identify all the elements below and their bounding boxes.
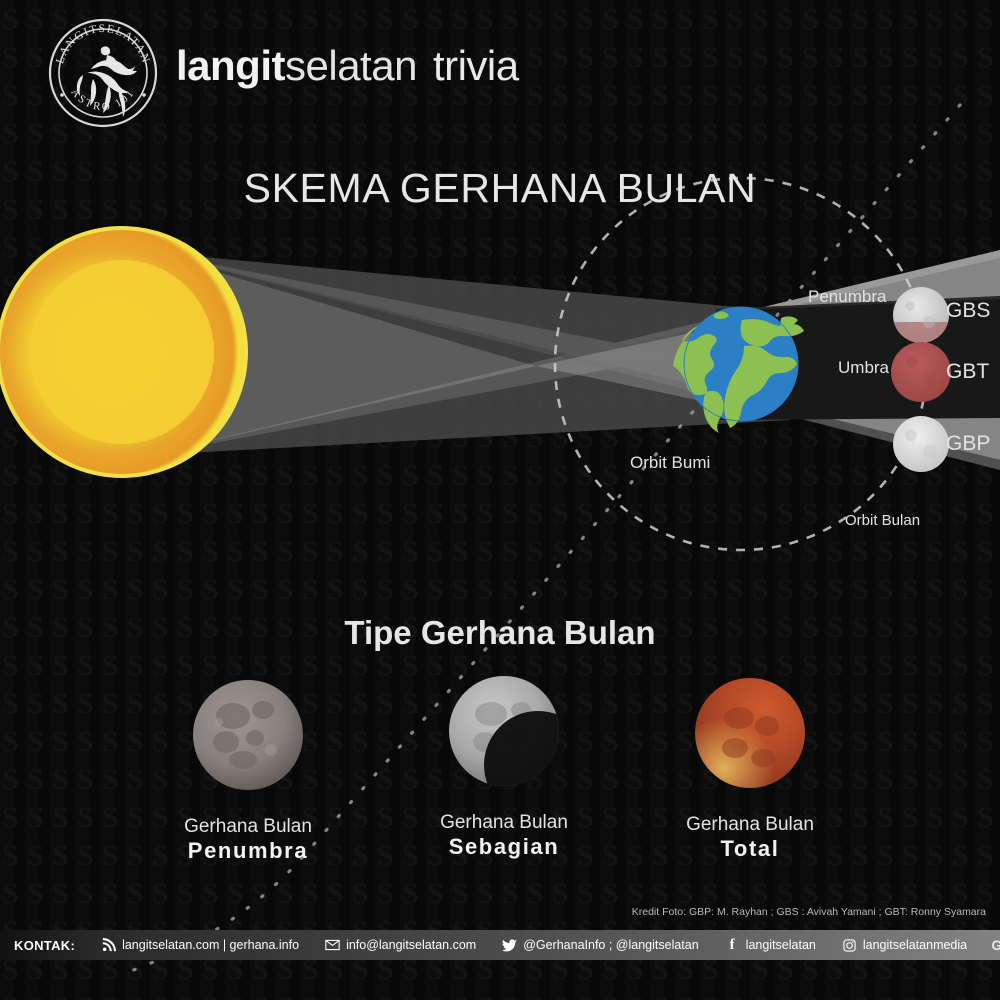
photo-credit: Kredit Foto: GBP: M. Rayhan ; GBS : Aviv…	[632, 906, 986, 918]
twitter-icon	[502, 938, 517, 953]
facebook-icon: f	[725, 938, 740, 953]
wordmark-bold: langit	[176, 42, 285, 89]
footer-item-googleplus[interactable]: G+ LangitselatanMedia	[993, 938, 1000, 953]
label-gbp: GBP	[946, 432, 990, 456]
label-orbit-bulan: Orbit Bulan	[845, 512, 920, 529]
page-header: LANGITSELATAN ASTRO 101 langitselatantri…	[0, 0, 1000, 140]
label-gbs: GBS	[946, 299, 990, 323]
envelope-icon	[325, 938, 340, 953]
sun	[0, 228, 246, 476]
footer-item-facebook[interactable]: f langitselatan	[725, 938, 816, 953]
section-title-tipe: Tipe Gerhana Bulan	[0, 614, 1000, 652]
moon-photo-penumbral	[189, 676, 307, 794]
instagram-icon	[842, 938, 857, 953]
label-gbt: GBT	[946, 360, 989, 384]
wordmark-light: selatan	[285, 42, 417, 89]
caption-top-total: Gerhana Bulan	[620, 814, 880, 836]
logo-ring-top-text: LANGITSELATAN	[54, 23, 152, 65]
moon-position-gbt	[891, 342, 951, 402]
caption-top-penumbra: Gerhana Bulan	[118, 816, 378, 838]
footer-twitter-text: @GerhanaInfo ; @langitselatan	[523, 938, 698, 952]
caption-bold-penumbra: Penumbra	[118, 838, 378, 864]
contact-footer: KONTAK: langitselatan.com | gerhana.info…	[0, 930, 1000, 960]
rss-icon	[101, 938, 116, 953]
googleplus-icon: G+	[993, 938, 1000, 953]
footer-item-twitter[interactable]: @GerhanaInfo ; @langitselatan	[502, 938, 698, 953]
langitselatan-logo-icon: LANGITSELATAN ASTRO 101	[47, 17, 159, 129]
infographic-canvas: S	[0, 0, 1000, 1000]
eclipse-type-card-sebagian: Gerhana Bulan Sebagian	[374, 672, 634, 860]
wordmark: langitselatantrivia	[176, 42, 519, 90]
footer-item-instagram[interactable]: langitselatanmedia	[842, 938, 967, 953]
caption-bold-total: Total	[620, 836, 880, 862]
moon-photo-total	[691, 674, 809, 792]
footer-label: KONTAK:	[0, 938, 101, 953]
footer-facebook-text: langitselatan	[746, 938, 816, 952]
eclipse-type-gallery: Gerhana Bulan Penumbra	[0, 676, 1000, 896]
footer-item-website[interactable]: langitselatan.com | gerhana.info	[101, 938, 299, 953]
eclipse-type-card-total: Gerhana Bulan Total	[620, 674, 880, 862]
eclipse-type-card-penumbra: Gerhana Bulan Penumbra	[118, 676, 378, 864]
svg-text:LANGITSELATAN: LANGITSELATAN	[54, 23, 152, 65]
wordmark-trivia: trivia	[433, 42, 519, 89]
caption-top-sebagian: Gerhana Bulan	[374, 812, 634, 834]
footer-website-text: langitselatan.com | gerhana.info	[122, 938, 299, 952]
moon-photo-partial	[445, 672, 563, 790]
footer-instagram-text: langitselatanmedia	[863, 938, 967, 952]
moon-position-gbp	[893, 416, 949, 472]
label-orbit-bumi: Orbit Bumi	[630, 453, 710, 473]
footer-item-email[interactable]: info@langitselatan.com	[325, 938, 476, 953]
caption-bold-sebagian: Sebagian	[374, 834, 634, 860]
page-title: SKEMA GERHANA BULAN	[0, 165, 1000, 212]
label-umbra: Umbra	[838, 358, 889, 378]
label-penumbra: Penumbra	[808, 287, 886, 307]
footer-email-text: info@langitselatan.com	[346, 938, 476, 952]
